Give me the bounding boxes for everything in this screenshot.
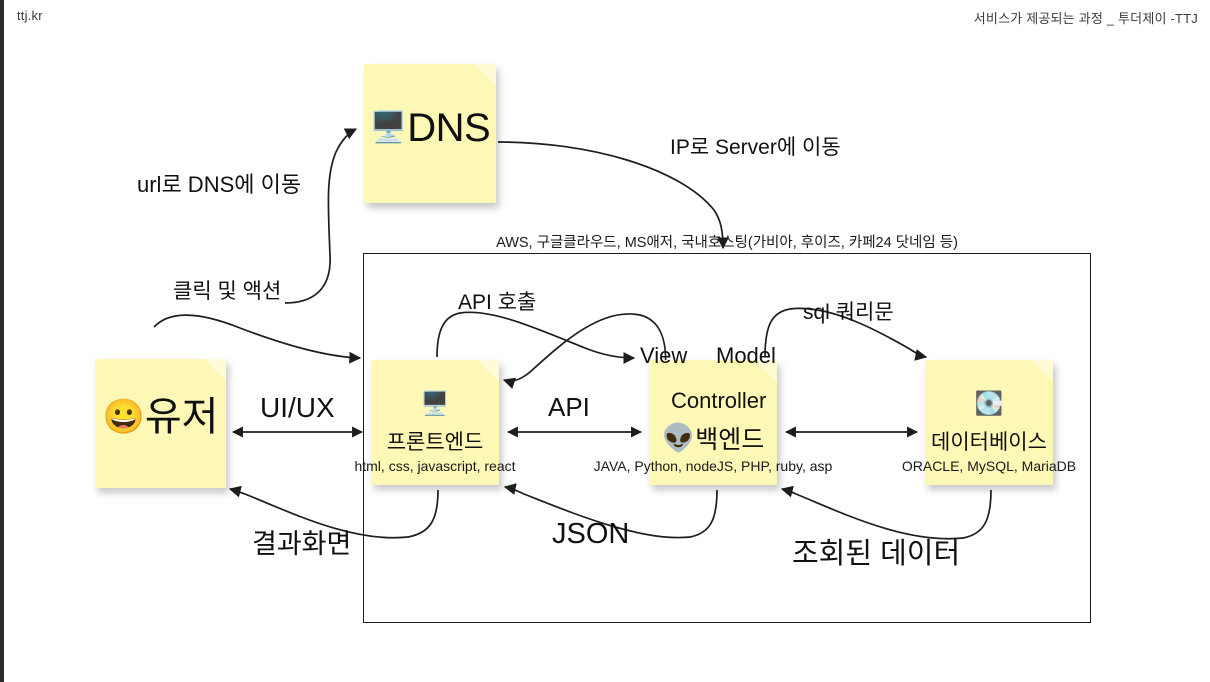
label-api: API: [548, 394, 590, 420]
label-click-action: 클릭 및 액션: [173, 281, 281, 302]
user-note-content: 😀 유저: [95, 397, 226, 437]
label-url-to-dns: url로 DNS에 이동: [137, 174, 301, 196]
note-fold-corner: [474, 64, 496, 86]
note-fold-corner: [477, 360, 499, 382]
note-fold-corner: [1031, 360, 1053, 382]
label-queried-data: 조회된 데이터: [792, 540, 960, 569]
label-view: View: [640, 345, 687, 367]
diagram-canvas: ttj.kr 서비스가 제공되는 과정 _ 투더제이 -TTJ AWS, 구글클…: [0, 0, 1210, 682]
backend-stack-text: JAVA, Python, nodeJS, PHP, ruby, asp: [569, 458, 857, 474]
label-ui-ux: UI/UX: [260, 394, 335, 422]
sticky-note-frontend[interactable]: 🖥️ 프론트엔드 html, css, javascript, react: [371, 360, 499, 485]
label-model: Model: [716, 345, 776, 367]
alien-icon: 👽: [662, 425, 696, 452]
desktop-computer-icon: 🖥️: [370, 113, 407, 143]
header-left-text: ttj.kr: [17, 8, 43, 23]
label-api-call: API 호출: [458, 292, 536, 313]
sticky-note-dns[interactable]: 🖥️ DNS: [364, 64, 496, 203]
computer-disk-icon: 💽: [925, 392, 1053, 415]
dns-note-content: 🖥️ DNS: [364, 108, 496, 148]
frontend-label: 프론트엔드: [347, 426, 523, 456]
header-right-text: 서비스가 제공되는 과정 _ 투더제이 -TTJ: [974, 8, 1198, 27]
left-edge-bar: [0, 0, 4, 682]
sticky-note-user[interactable]: 😀 유저: [95, 359, 226, 488]
sticky-note-database[interactable]: 💽 데이터베이스 ORACLE, MySQL, MariaDB: [925, 360, 1053, 485]
database-stack-text: ORACLE, MySQL, MariaDB: [845, 458, 1133, 474]
dns-label: DNS: [407, 108, 490, 148]
label-controller: Controller: [671, 390, 766, 412]
server-box-caption: AWS, 구글클라우드, MS애저, 국내호스팅(가비아, 후이즈, 카페24 …: [363, 231, 1091, 252]
label-sql-query: sql 쿼리문: [803, 302, 894, 323]
backend-label: 백엔드: [695, 420, 764, 456]
label-result-screen: 결과화면: [252, 531, 351, 558]
monitor-icon: 🖥️: [371, 392, 499, 415]
note-fold-corner: [204, 359, 226, 381]
sticky-note-backend[interactable]: 👽 백엔드 JAVA, Python, nodeJS, PHP, ruby, a…: [649, 360, 777, 485]
label-json: JSON: [552, 520, 629, 549]
smiling-face-icon: 😀: [103, 400, 145, 434]
frontend-stack-text: html, css, javascript, react: [291, 458, 579, 474]
database-label: 데이터베이스: [901, 426, 1077, 456]
user-label: 유저: [145, 397, 219, 437]
backend-note-content: 👽 백엔드: [627, 420, 799, 456]
label-ip-to-server: IP로 Server에 이동: [670, 137, 841, 158]
